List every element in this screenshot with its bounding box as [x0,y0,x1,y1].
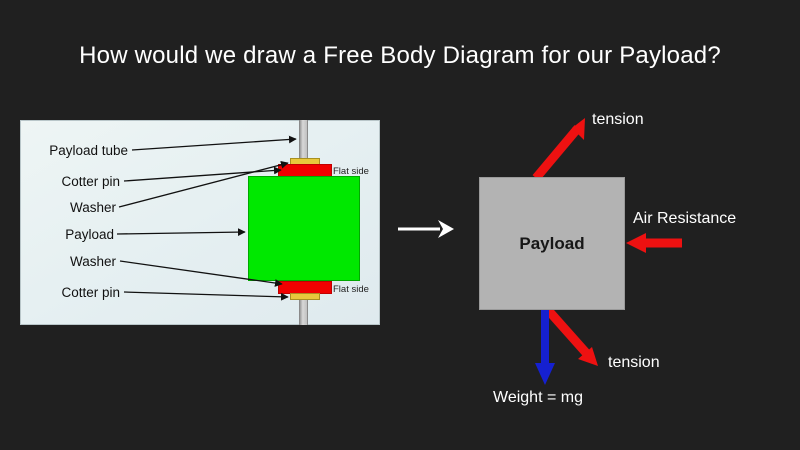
slide-canvas: How would we draw a Free Body Diagram fo… [0,0,800,450]
label-flat-side-top: Flat side [333,167,369,177]
label-washer-bottom: Washer [70,255,116,269]
washer-bottom-shape [290,293,320,300]
page-title: How would we draw a Free Body Diagram fo… [0,42,800,70]
label-cotter-pin-bottom: Cotter pin [61,286,120,300]
label-washer-top: Washer [70,201,116,215]
payload-body-shape [248,176,360,281]
force-label-tension-bottom: tension [608,355,660,371]
label-payload-tube: Payload tube [49,144,128,158]
label-payload: Payload [65,228,114,242]
label-flat-side-bottom: Flat side [333,285,369,295]
force-label-air-resistance: Air Resistance [633,211,736,227]
label-cotter-pin-top: Cotter pin [61,175,120,189]
free-body-payload-box: Payload [479,177,625,310]
force-label-weight: Weight = mg [493,390,583,406]
arrow-right-icon [398,216,454,242]
force-label-tension-top: tension [592,112,644,128]
free-body-payload-label: Payload [480,178,624,309]
